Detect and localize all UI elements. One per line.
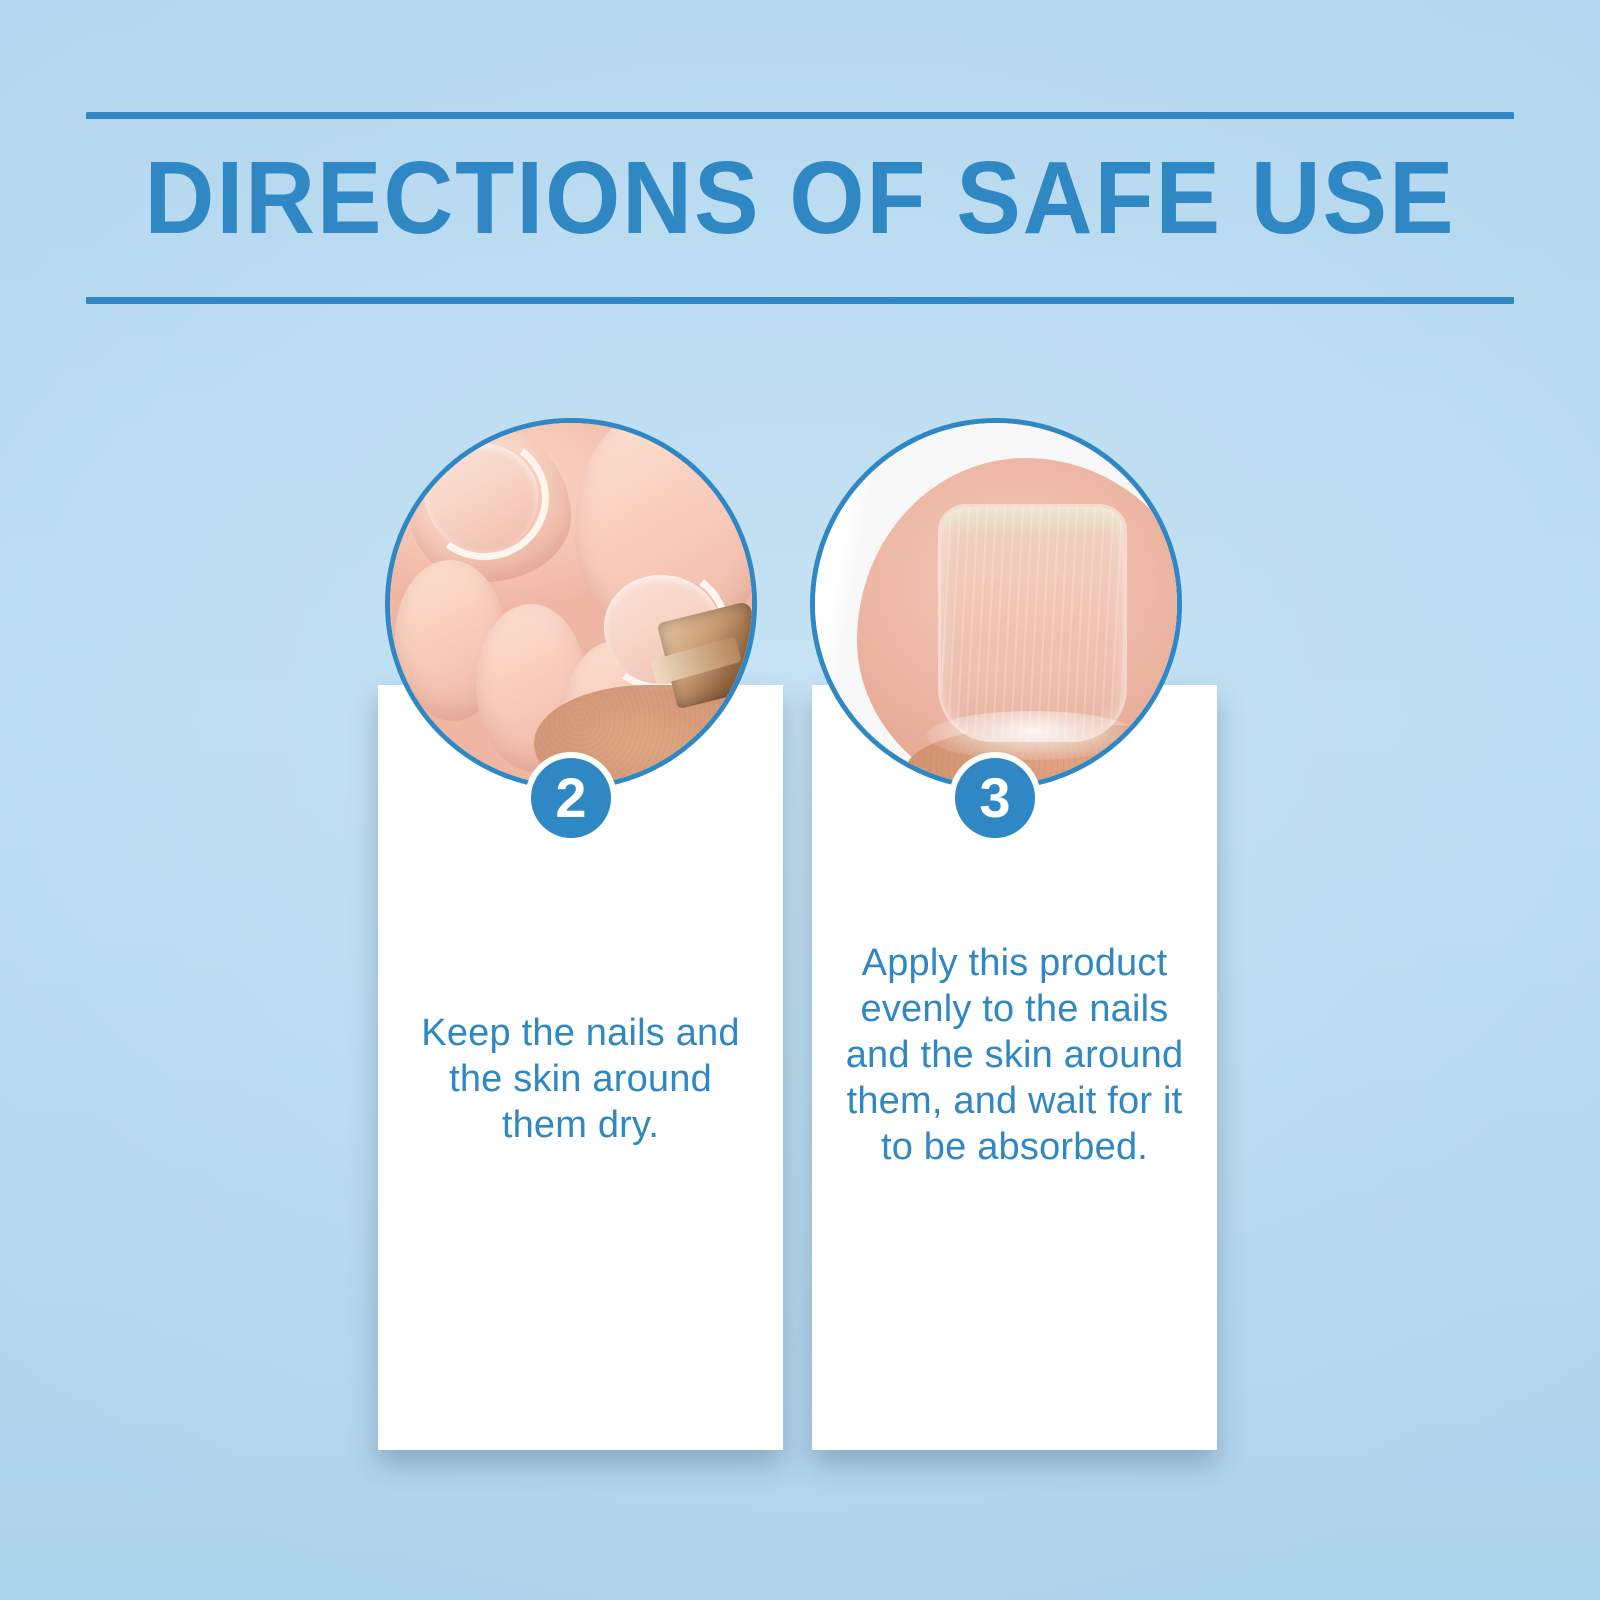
nail-streaks — [941, 507, 1124, 739]
toes-with-nail-clipper-photo — [385, 418, 757, 790]
steps-container: Keep the nails and the skin around them … — [0, 0, 1600, 1600]
step-description: Apply this product evenly to the nails a… — [840, 940, 1189, 1170]
closeup-toenail-photo — [810, 418, 1182, 790]
macro-background — [813, 421, 1179, 787]
finger-shape — [857, 458, 1182, 790]
step-number-badge-2: 2 — [525, 752, 617, 844]
step-description: Keep the nails and the skin around them … — [406, 1010, 755, 1148]
step-image-wrapper-2 — [385, 418, 757, 790]
step-image-wrapper-3 — [810, 418, 1182, 790]
nail-plate — [941, 507, 1124, 739]
step-number-badge-3: 3 — [949, 752, 1041, 844]
cuticle-highlight — [927, 711, 1138, 760]
toes-skin-base — [388, 421, 754, 787]
